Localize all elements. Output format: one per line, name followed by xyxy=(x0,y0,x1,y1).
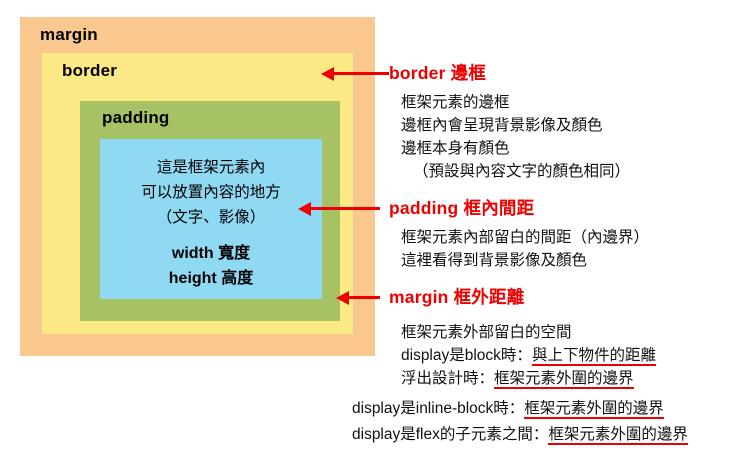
content-layer-text: 這是框架元素內 可以放置內容的地方 （文字、影像） width 寬度 heigh… xyxy=(100,155,322,291)
annotation-bottom-line-1-prefix: display是inline-block時： xyxy=(352,400,524,417)
annotation-bottom-line-2-underlined: 框架元素外圍的邊界 xyxy=(548,426,688,445)
annotation-bottom-line-2: display是flex的子元素之間：框架元素外圍的邊界 xyxy=(352,422,750,448)
annotation-margin-line-3: 浮出設計時：框架元素外圍的邊界 xyxy=(401,367,656,390)
margin-arrow-icon xyxy=(348,296,380,299)
annotation-bottom: display是inline-block時：框架元素外圍的邊界 display是… xyxy=(352,396,750,448)
annotation-border-lines: 框架元素的邊框 邊框內會呈現背景影像及顏色 邊框本身有顏色 （預設與內容文字的顏… xyxy=(389,91,630,183)
content-line-3: （文字、影像） xyxy=(100,205,322,230)
content-height-label: height 高度 xyxy=(100,266,322,291)
border-layer-label: border xyxy=(62,61,117,81)
annotation-margin-line-2-prefix: display是block時： xyxy=(401,347,532,364)
annotation-padding-line-1: 框架元素內部留白的間距（內邊界） xyxy=(401,226,649,249)
padding-layer-label: padding xyxy=(102,108,170,128)
content-line-2: 可以放置內容的地方 xyxy=(100,180,322,205)
margin-layer-label: margin xyxy=(40,25,98,45)
annotation-margin-line-3-underlined: 框架元素外圍的邊界 xyxy=(494,370,634,389)
annotation-margin-lines: 框架元素外部留白的空間 display是block時：與上下物件的距離 浮出設計… xyxy=(389,321,656,390)
padding-arrow-icon xyxy=(310,207,380,210)
border-arrow-icon xyxy=(333,72,389,75)
content-line-1: 這是框架元素內 xyxy=(100,155,322,180)
annotation-border-line-1: 框架元素的邊框 xyxy=(401,91,630,114)
annotation-margin-line-2-underlined: 與上下物件的距離 xyxy=(532,347,656,366)
annotation-border-line-4: （預設與內容文字的顏色相同） xyxy=(401,160,630,183)
annotation-padding-lines: 框架元素內部留白的間距（內邊界） 這裡看得到背景影像及顏色 xyxy=(389,226,649,272)
content-width-label: width 寬度 xyxy=(100,241,322,266)
annotation-border: border 邊框 框架元素的邊框 邊框內會呈現背景影像及顏色 邊框本身有顏色 … xyxy=(389,60,630,183)
annotation-bottom-line-1: display是inline-block時：框架元素外圍的邊界 xyxy=(352,396,750,422)
annotation-column: border 邊框 框架元素的邊框 邊框內會呈現背景影像及顏色 邊框本身有顏色 … xyxy=(389,0,750,461)
annotation-margin: margin 框外距離 框架元素外部留白的空間 display是block時：與… xyxy=(389,284,656,390)
annotation-margin-title: margin 框外距離 xyxy=(389,284,656,309)
annotation-margin-line-1: 框架元素外部留白的空間 xyxy=(401,321,656,344)
annotation-margin-line-2: display是block時：與上下物件的距離 xyxy=(401,344,656,367)
annotation-border-title: border 邊框 xyxy=(389,60,630,85)
annotation-bottom-line-1-underlined: 框架元素外圍的邊界 xyxy=(524,400,664,419)
annotation-border-line-3: 邊框本身有顏色 xyxy=(401,137,630,160)
annotation-margin-line-3-prefix: 浮出設計時： xyxy=(401,370,494,387)
annotation-border-line-2: 邊框內會呈現背景影像及顏色 xyxy=(401,114,630,137)
annotation-padding-title: padding 框內間距 xyxy=(389,195,649,220)
content-layer: 這是框架元素內 可以放置內容的地方 （文字、影像） width 寬度 heigh… xyxy=(100,139,322,299)
annotation-padding: padding 框內間距 框架元素內部留白的間距（內邊界） 這裡看得到背景影像及… xyxy=(389,195,649,272)
annotation-bottom-line-2-prefix: display是flex的子元素之間： xyxy=(352,426,548,443)
annotation-padding-line-2: 這裡看得到背景影像及顏色 xyxy=(401,249,649,272)
